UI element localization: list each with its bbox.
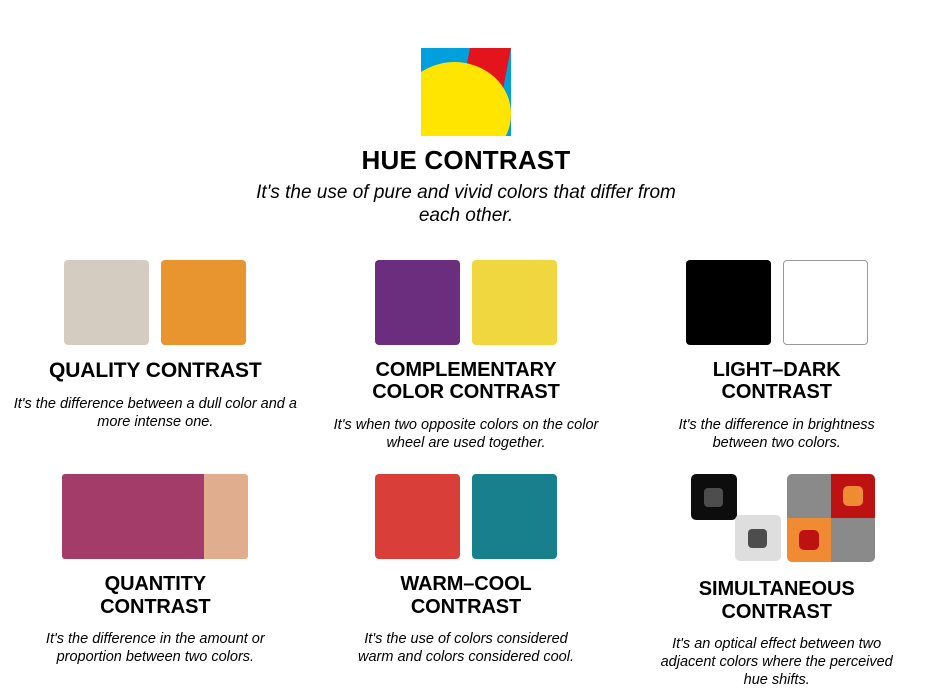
contrast-card-quality: QUALITY CONTRAST It's the difference bet… bbox=[0, 260, 311, 452]
page-title: HUE CONTRAST bbox=[362, 146, 571, 175]
black-swatch bbox=[686, 260, 771, 345]
contrast-card-simultaneous: SIMULTANEOUS CONTRAST It's an optical ef… bbox=[621, 474, 932, 689]
quantity-proportion-bar bbox=[62, 474, 248, 559]
contrast-card-complementary: COMPLEMENTARY COLOR CONTRAST It's when t… bbox=[311, 260, 622, 452]
quantity-minor-region bbox=[204, 474, 249, 559]
swatch-pair-light-dark bbox=[686, 260, 868, 345]
simultaneous-quad-grid bbox=[787, 474, 875, 562]
grid-cell-bottom-left bbox=[787, 518, 831, 562]
yellow-swatch bbox=[472, 260, 557, 345]
contrast-card-warm-cool: WARM–COOL CONTRAST It's the use of color… bbox=[311, 474, 622, 689]
header-section: HUE CONTRAST It's the use of pure and vi… bbox=[0, 0, 932, 228]
contrast-card-light-dark: LIGHT–DARK CONTRAST It's the difference … bbox=[621, 260, 932, 452]
contrast-title-simultaneous: SIMULTANEOUS CONTRAST bbox=[699, 578, 855, 623]
contrast-title-quantity: QUANTITY CONTRAST bbox=[100, 573, 210, 618]
grid-cell-top-right-inner bbox=[843, 486, 863, 506]
swatch-pair-complementary bbox=[375, 260, 557, 345]
simultaneous-dark-square bbox=[691, 474, 737, 520]
contrast-description-quantity: It's the difference in the amount or pro… bbox=[35, 630, 275, 666]
hue-contrast-swatch bbox=[421, 48, 511, 136]
contrast-description-warm-cool: It's the use of colors considered warm a… bbox=[346, 630, 586, 666]
intense-orange-swatch bbox=[161, 260, 246, 345]
cool-teal-swatch bbox=[472, 474, 557, 559]
page-description: It's the use of pure and vivid colors th… bbox=[256, 181, 676, 229]
contrast-row-two: QUANTITY CONTRAST It's the difference in… bbox=[0, 474, 932, 689]
contrast-title-light-dark: LIGHT–DARK CONTRAST bbox=[713, 359, 841, 404]
dull-beige-swatch bbox=[64, 260, 149, 345]
simultaneous-light-square bbox=[735, 515, 781, 561]
contrast-description-simultaneous: It's an optical effect between two adjac… bbox=[657, 635, 897, 689]
contrast-description-light-dark: It's the difference in brightness betwee… bbox=[657, 416, 897, 452]
simultaneous-light-square-inner bbox=[748, 529, 767, 548]
white-swatch bbox=[783, 260, 868, 345]
simultaneous-contrast-composite bbox=[679, 474, 875, 564]
grid-cell-bottom-right bbox=[831, 518, 875, 562]
contrast-row-one: QUALITY CONTRAST It's the difference bet… bbox=[0, 260, 932, 452]
contrast-title-warm-cool: WARM–COOL CONTRAST bbox=[400, 573, 531, 618]
contrast-card-quantity: QUANTITY CONTRAST It's the difference in… bbox=[0, 474, 311, 689]
grid-cell-top-left bbox=[787, 474, 831, 518]
swatch-pair-warm-cool bbox=[375, 474, 557, 559]
quantity-major-region bbox=[62, 474, 203, 559]
contrast-description-quality: It's the difference between a dull color… bbox=[10, 395, 300, 431]
warm-red-swatch bbox=[375, 474, 460, 559]
contrast-title-complementary: COMPLEMENTARY COLOR CONTRAST bbox=[372, 359, 559, 404]
grid-cell-bottom-left-inner bbox=[799, 530, 819, 550]
purple-swatch bbox=[375, 260, 460, 345]
grid-cell-top-right bbox=[831, 474, 875, 518]
swatch-pair-quality bbox=[64, 260, 246, 345]
contrast-title-quality: QUALITY CONTRAST bbox=[49, 359, 262, 383]
contrast-description-complementary: It's when two opposite colors on the col… bbox=[321, 416, 611, 452]
simultaneous-dark-square-inner bbox=[704, 488, 723, 507]
